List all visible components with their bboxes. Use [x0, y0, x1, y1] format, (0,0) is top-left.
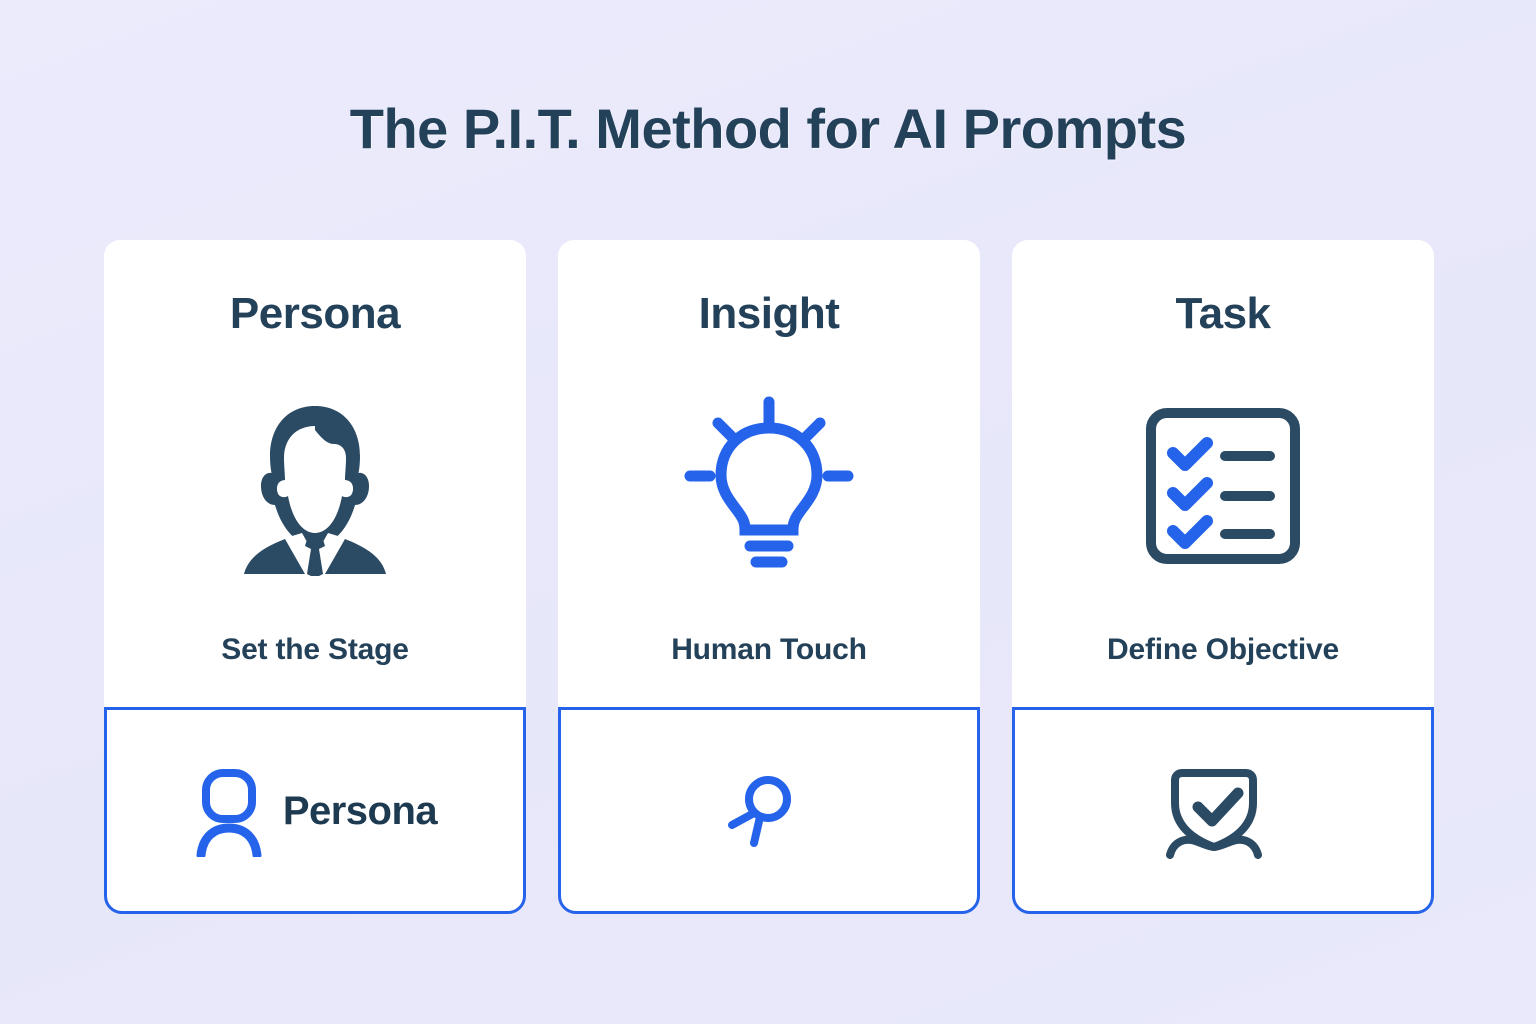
card-persona-caption: Set the Stage [221, 635, 408, 707]
page-title: The P.I.T. Method for AI Prompts [0, 96, 1536, 161]
user-outline-icon [193, 765, 265, 857]
shield-check-icon [1162, 763, 1266, 859]
checklist-icon [1012, 336, 1434, 635]
card-insight-badge[interactable] [558, 707, 980, 914]
card-insight-body: Insight [558, 240, 980, 707]
infographic-page: The P.I.T. Method for AI Prompts Persona [0, 0, 1536, 1024]
card-task-caption: Define Objective [1107, 635, 1339, 707]
card-persona-body: Persona Set the Stage [104, 240, 526, 707]
card-persona-heading: Persona [230, 292, 400, 336]
card-insight-caption: Human Touch [671, 635, 867, 707]
card-task[interactable]: Task [1012, 240, 1434, 914]
card-task-heading: Task [1175, 292, 1270, 336]
card-insight-heading: Insight [699, 292, 840, 336]
cards-row: Persona Set the Stage [104, 240, 1434, 914]
magnifier-person-icon [724, 773, 796, 849]
card-insight[interactable]: Insight [558, 240, 980, 914]
card-task-badge[interactable] [1012, 707, 1434, 914]
card-persona[interactable]: Persona Set the Stage [104, 240, 526, 914]
card-persona-badge-label: Persona [283, 791, 437, 831]
businessperson-silhouette-icon [104, 336, 526, 635]
card-task-body: Task [1012, 240, 1434, 707]
card-persona-badge[interactable]: Persona [104, 707, 526, 914]
lightbulb-icon [558, 336, 980, 635]
